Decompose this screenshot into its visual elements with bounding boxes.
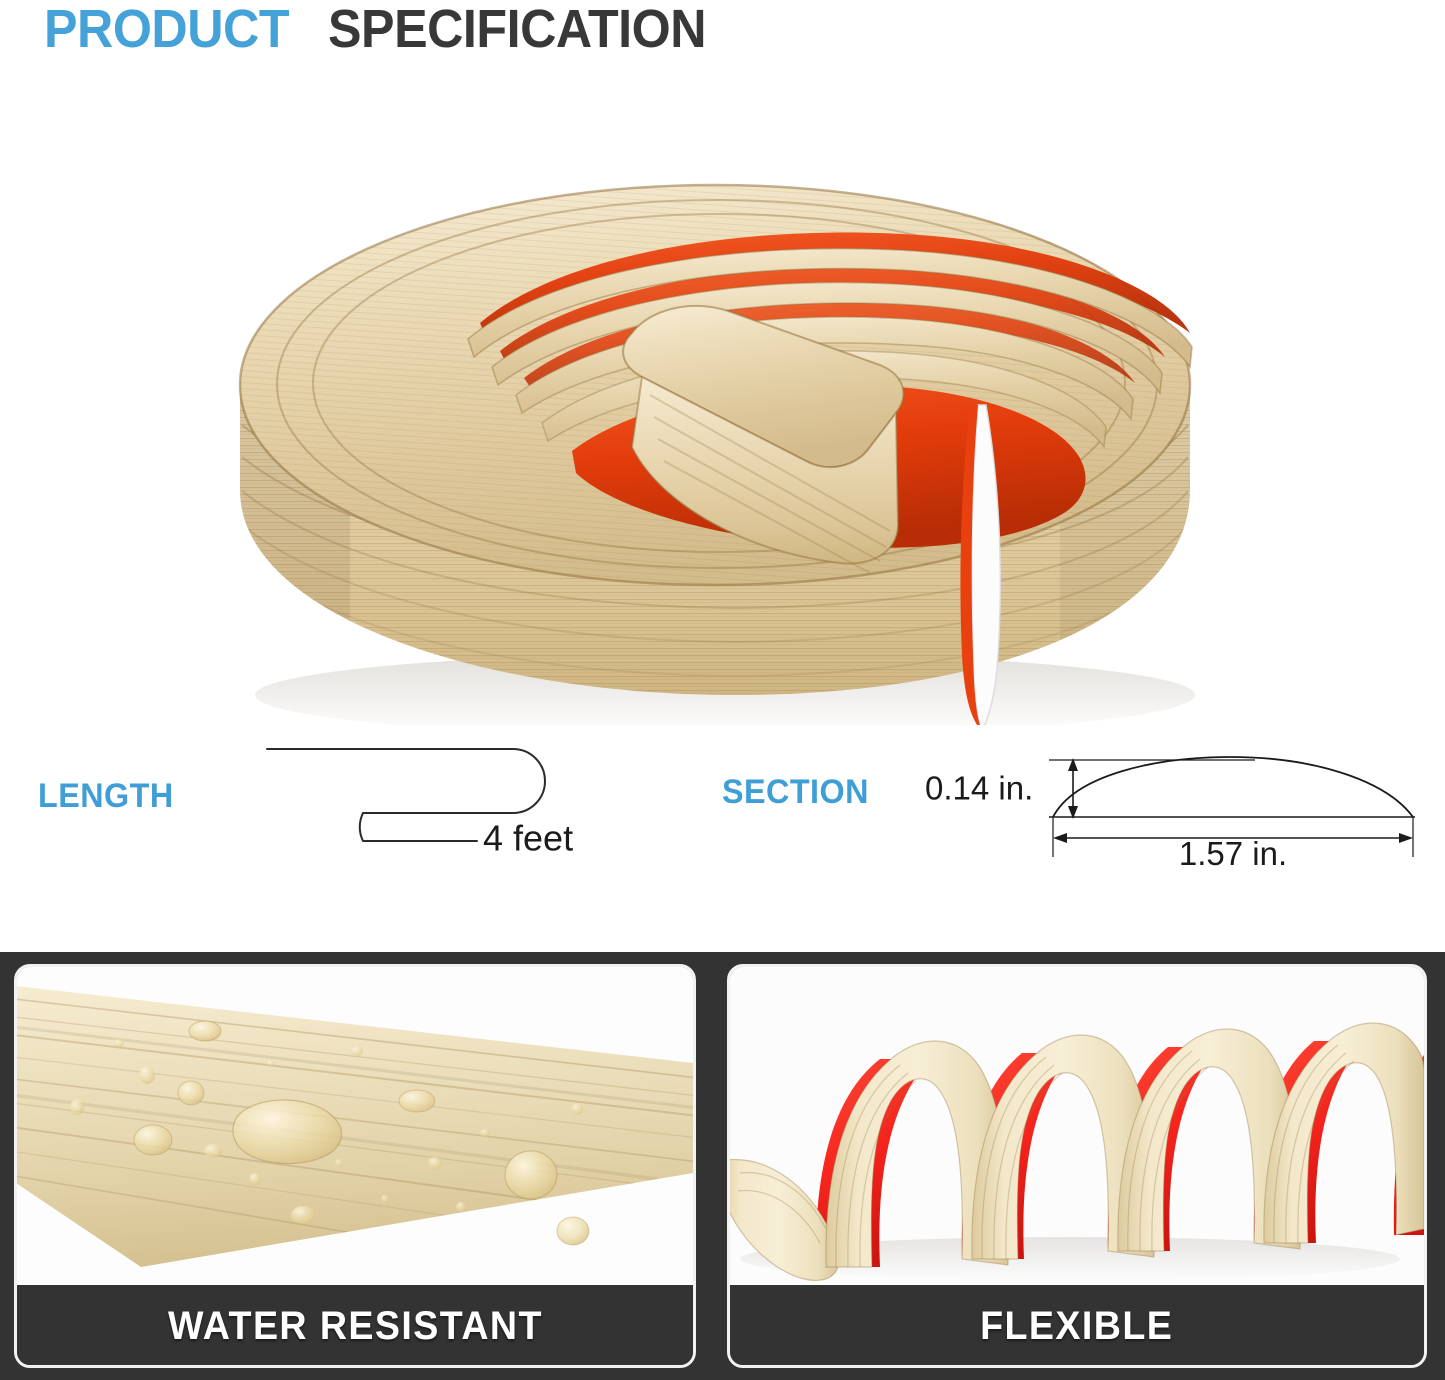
section-height-value: 0.14 in. bbox=[925, 770, 1033, 807]
profile-arc bbox=[1053, 757, 1413, 817]
feature-card-flexible: FLEXIBLE bbox=[727, 964, 1427, 1368]
section-width-value: 1.57 in. bbox=[1179, 835, 1287, 872]
section-diagram: 0.14 in. 1.57 in. bbox=[925, 735, 1425, 870]
coiled-roll-illustration bbox=[180, 95, 1250, 725]
spec-row: LENGTH 4 feet SECTION 0.14 in. bbox=[0, 735, 1445, 885]
water-resistant-caption: WATER RESISTANT bbox=[17, 1285, 693, 1368]
water-resistant-caption-text: WATER RESISTANT bbox=[168, 1304, 543, 1349]
water-resistant-photo bbox=[17, 967, 693, 1285]
product-hero-photo bbox=[180, 95, 1250, 725]
spiral-coil-illustration bbox=[730, 967, 1424, 1285]
title-primary: PRODUCT bbox=[44, 0, 289, 60]
water-droplets-illustration bbox=[17, 967, 693, 1285]
flexible-caption-text: FLEXIBLE bbox=[980, 1304, 1173, 1349]
product-specification-page: PRODUCT SPECIFICATION bbox=[0, 0, 1445, 1380]
feature-band: WATER RESISTANT bbox=[0, 952, 1445, 1380]
folded-strip-outline: 4 feet bbox=[245, 735, 645, 855]
section-label: SECTION bbox=[722, 773, 869, 812]
flexible-caption: FLEXIBLE bbox=[730, 1285, 1424, 1368]
flexible-photo bbox=[730, 967, 1424, 1285]
feature-card-water-resistant: WATER RESISTANT bbox=[14, 964, 696, 1368]
title-secondary: SPECIFICATION bbox=[328, 0, 706, 60]
length-label: LENGTH bbox=[38, 777, 174, 816]
length-value: 4 feet bbox=[483, 818, 573, 859]
length-diagram: 4 feet bbox=[245, 735, 645, 855]
cross-section-profile: 0.14 in. 1.57 in. bbox=[925, 735, 1425, 870]
page-title: PRODUCT SPECIFICATION bbox=[44, 0, 734, 60]
